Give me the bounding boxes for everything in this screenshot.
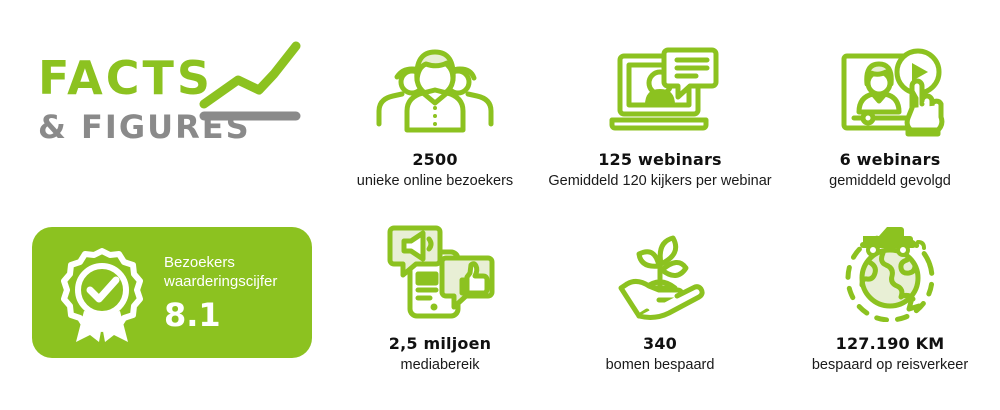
rating-text-group: Bezoekers waarderingscijfer 8.1 <box>164 253 277 333</box>
phone-megaphone-thumbsup-icon <box>350 222 530 322</box>
stat-label: mediabereik <box>350 357 530 373</box>
rating-label-line1: Bezoekers <box>164 253 277 272</box>
stat-label: bomen bespaard <box>570 357 750 373</box>
stat-value: 125 webinars <box>545 150 775 169</box>
rating-score: 8.1 <box>164 297 277 333</box>
infographic-root: FACTS & FIGURES Bez <box>0 0 1000 410</box>
stat-label: unieke online bezoekers <box>330 173 540 189</box>
stat-label: Gemiddeld 120 kijkers per webinar <box>545 173 775 189</box>
award-badge-check-icon <box>54 243 150 343</box>
stat-webinars: 125 webinars Gemiddeld 120 kijkers per w… <box>545 38 775 189</box>
stat-label: gemiddeld gevolgd <box>790 173 990 189</box>
stat-value: 6 webinars <box>790 150 990 169</box>
stat-label: bespaard op reisverkeer <box>780 357 1000 373</box>
video-play-hand-icon <box>790 38 990 138</box>
people-group-icon <box>330 38 540 138</box>
stat-media: 2,5 miljoen mediabereik <box>350 222 530 373</box>
stat-value: 127.190 KM <box>780 334 1000 353</box>
trend-line-chart-icon <box>196 32 306 127</box>
stat-trees: 340 bomen bespaard <box>570 222 750 373</box>
stat-followed: 6 webinars gemiddeld gevolgd <box>790 38 990 189</box>
stat-km: 127.190 KM bespaard op reisverkeer <box>780 222 1000 373</box>
globe-car-travel-icon <box>780 222 1000 322</box>
rating-card: Bezoekers waarderingscijfer 8.1 <box>32 227 312 358</box>
stat-value: 2500 <box>330 150 540 169</box>
stat-visitors: 2500 unieke online bezoekers <box>330 38 540 189</box>
stat-value: 340 <box>570 334 750 353</box>
rating-label-line2: waarderingscijfer <box>164 272 277 291</box>
hand-seedling-icon <box>570 222 750 322</box>
stat-value: 2,5 miljoen <box>350 334 530 353</box>
laptop-webinar-icon <box>545 38 775 138</box>
